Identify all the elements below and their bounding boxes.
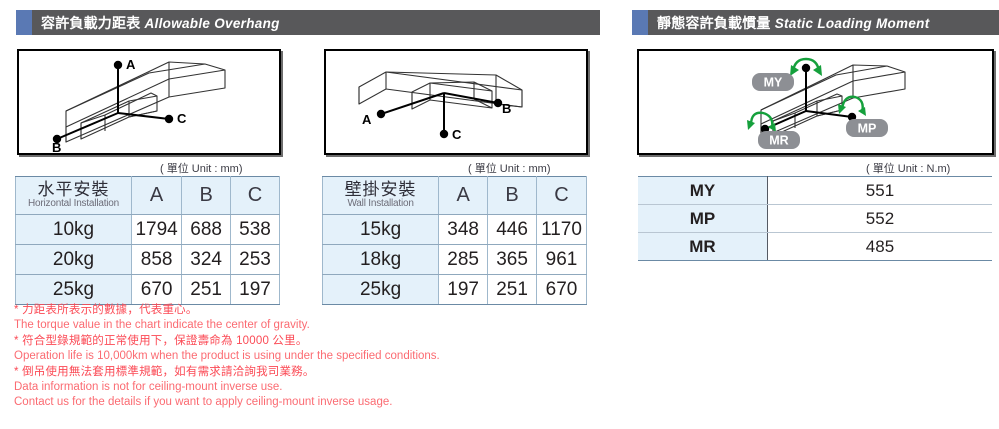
header-cjk: 壁掛安裝 [327,181,434,199]
row-label: 15kg [323,215,439,245]
moment-row-label: MP [638,205,767,233]
moment-row-label: MR [638,233,767,261]
moment-row-value: 552 [767,205,992,233]
cell-b: 446 [488,215,537,245]
cell-c: 670 [537,275,587,305]
table-header-row: 水平安裝 Horizontal Installation A B C [16,177,280,215]
cell-b: 251 [182,275,231,305]
table-row: 18kg 285 365 961 [323,245,587,275]
column-header-c: C [231,177,280,215]
section-title-en: Allowable Overhang [145,16,280,31]
cell-b: 365 [488,245,537,275]
row-label: 20kg [16,245,132,275]
column-header-b: B [182,177,231,215]
column-header-b: B [488,177,537,215]
moment-row-value: 485 [767,233,992,261]
axis-label-c: C [177,111,187,126]
row-label: 18kg [323,245,439,275]
static-loading-moment-table: MY 551 MP 552 MR 485 [638,176,992,261]
row-label: 10kg [16,215,132,245]
footnote-line: * 力距表所表示的數據，代表重心。 [14,303,440,318]
header-cjk: 水平安裝 [20,181,127,199]
moment-label-mp: MP [846,119,888,137]
cell-b: 688 [182,215,231,245]
static-moment-diagram: MY MP MR [637,49,994,155]
moment-label-mp-text: MP [858,122,877,136]
header-en: Horizontal Installation [20,199,127,210]
section-title-static-loading-moment: 靜態容許負載慣量 Static Loading Moment [648,13,930,33]
table-row: MY 551 [638,177,992,205]
footnotes: * 力距表所表示的數據，代表重心。 The torque value in th… [14,303,440,411]
table-row: 10kg 1794 688 538 [16,215,280,245]
axis-label-a: A [362,112,372,127]
cell-c: 253 [231,245,280,275]
footnote-line: Data information is not for ceiling-moun… [14,380,440,395]
table-row: 15kg 348 446 1170 [323,215,587,245]
footnote-line: Contact us for the details if you want t… [14,395,440,410]
cell-b: 251 [488,275,537,305]
table-row: MP 552 [638,205,992,233]
header-accent-bar [632,10,648,35]
axis-label-b: B [52,140,61,152]
table-row: 25kg 670 251 197 [16,275,280,305]
unit-caption-nm: ( 單位 Unit : N.m) [866,160,950,176]
row-label: 25kg [323,275,439,305]
table-header-row: 壁掛安裝 Wall Installation A B C [323,177,587,215]
table-row: 20kg 858 324 253 [16,245,280,275]
unit-caption-mm-wall: ( 單位 Unit : mm) [468,160,551,176]
footnote-line: Operation life is 10,000km when the prod… [14,349,440,364]
table-row: MR 485 [638,233,992,261]
column-header-a: A [132,177,182,215]
axis-label-a: A [126,57,136,72]
unit-caption-mm-horizontal: ( 單位 Unit : mm) [160,160,243,176]
cell-c: 961 [537,245,587,275]
cell-a: 670 [132,275,182,305]
section-header-static-loading-moment: 靜態容許負載慣量 Static Loading Moment [632,10,999,35]
cell-a: 1794 [132,215,182,245]
cell-c: 1170 [537,215,587,245]
horizontal-installation-table: 水平安裝 Horizontal Installation A B C 10kg … [15,176,280,305]
moment-label-mr: MR [758,131,800,149]
cell-a: 858 [132,245,182,275]
cell-c: 197 [231,275,280,305]
column-header-a: A [439,177,488,215]
wall-rail-illustration: A B C [326,51,585,152]
header-en: Wall Installation [327,199,434,210]
section-header-allowable-overhang: 容許負載力距表 Allowable Overhang [16,10,600,35]
section-title-allowable-overhang: 容許負載力距表 Allowable Overhang [32,13,280,33]
table-header-install-type: 壁掛安裝 Wall Installation [323,177,439,215]
axis-label-c: C [452,127,462,142]
cell-c: 538 [231,215,280,245]
cell-a: 348 [439,215,488,245]
column-header-c: C [537,177,587,215]
cell-a: 197 [439,275,488,305]
horizontal-rail-illustration: A C B [19,51,278,152]
footnote-line: * 倒吊使用無法套用標準規範，如有需求請洽詢我司業務。 [14,365,440,380]
table-row: 25kg 197 251 670 [323,275,587,305]
moment-label-my-text: MY [764,76,783,90]
cell-a: 285 [439,245,488,275]
wall-installation-table: 壁掛安裝 Wall Installation A B C 15kg 348 44… [322,176,587,305]
moment-rail-illustration: MY MP MR [639,51,991,152]
table-header-install-type: 水平安裝 Horizontal Installation [16,177,132,215]
footnote-line: The torque value in the chart indicate t… [14,318,440,333]
section-title-cjk: 容許負載力距表 [41,15,140,31]
cell-b: 324 [182,245,231,275]
wall-installation-diagram: A B C [324,49,588,155]
moment-label-mr-text: MR [769,134,788,148]
moment-row-value: 551 [767,177,992,205]
footnote-line: * 符合型錄規範的正常使用下，保證壽命為 10000 公里。 [14,334,440,349]
moment-row-label: MY [638,177,767,205]
moment-label-my: MY [752,73,794,91]
section-title-cjk: 靜態容許負載慣量 [657,15,771,31]
section-title-en: Static Loading Moment [775,16,930,31]
row-label: 25kg [16,275,132,305]
horizontal-installation-diagram: A C B [17,49,281,155]
axis-label-b: B [502,101,511,116]
header-accent-bar [16,10,32,35]
